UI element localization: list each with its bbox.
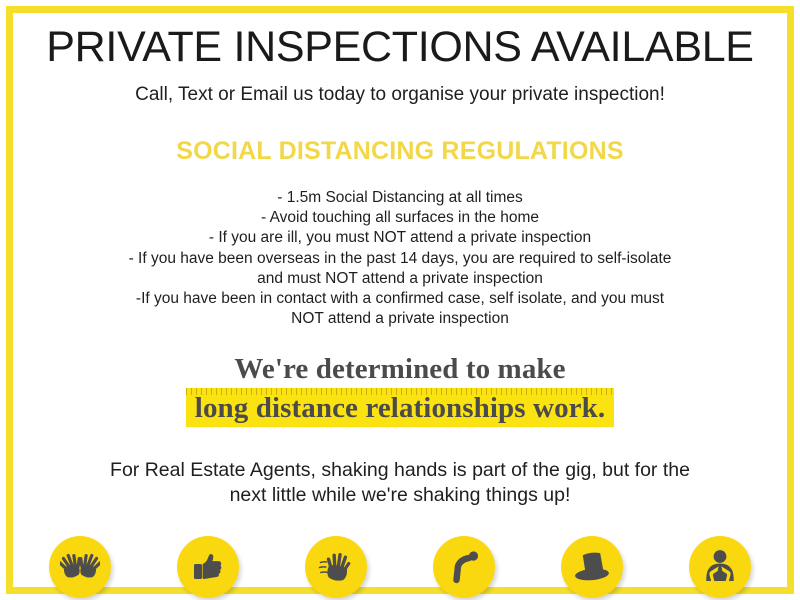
- gesture-circle: [561, 536, 623, 598]
- gesture-item-waving: Waving: [297, 536, 375, 600]
- rule-line: - Avoid touching all surfaces in the hom…: [26, 208, 774, 228]
- section-title-social-distancing: SOCIAL DISTANCING REGULATIONS: [26, 137, 774, 166]
- page-title: PRIVATE INSPECTIONS AVAILABLE: [26, 25, 774, 70]
- top-hat-icon: [571, 550, 613, 584]
- waving-hand-icon: [318, 549, 354, 585]
- body-copy: For Real Estate Agents, shaking hands is…: [26, 458, 774, 509]
- gesture-item-namaste: Namaste: [681, 536, 759, 600]
- tagline-highlight-wrapper: long distance relationships work.: [26, 388, 774, 427]
- body-copy-line: For Real Estate Agents, shaking hands is…: [26, 458, 774, 483]
- gesture-circle: [433, 536, 495, 598]
- bowing-head: [469, 551, 478, 560]
- gesture-item-bowing: Bowing: [425, 536, 503, 600]
- gesture-item-thumbs-up: Thumbs up: [169, 536, 247, 600]
- rule-line: and must NOT attend a private inspection: [26, 269, 774, 289]
- gesture-circle: [177, 536, 239, 598]
- rule-line: NOT attend a private inspection: [26, 309, 774, 329]
- gesture-circle: [689, 536, 751, 598]
- tagline-line-2-text: long distance relationships work.: [195, 392, 605, 424]
- gesture-list: Jazz hands Thumbs up: [26, 536, 774, 600]
- tagline-line-1: We're determined to make: [26, 353, 774, 385]
- body-copy-line: next little while we're shaking things u…: [26, 483, 774, 508]
- poster-content: PRIVATE INSPECTIONS AVAILABLE Call, Text…: [0, 0, 800, 600]
- jazz-hands-icon: [60, 550, 100, 584]
- namaste-person-icon: [700, 548, 740, 586]
- gesture-item-tip-of-the-hat: Tip of the hat: [553, 536, 631, 600]
- gesture-item-jazz-hands: Jazz hands: [41, 536, 119, 600]
- gesture-circle: [305, 536, 367, 598]
- tagline-line-2-highlighted: long distance relationships work.: [186, 388, 614, 427]
- thumbs-up-icon: [191, 550, 225, 584]
- rule-line: - If you are ill, you must NOT attend a …: [26, 228, 774, 248]
- rules-list: - 1.5m Social Distancing at all times - …: [26, 188, 774, 329]
- subtitle: Call, Text or Email us today to organise…: [26, 84, 774, 106]
- rule-line: - If you have been overseas in the past …: [26, 249, 774, 269]
- poster: PRIVATE INSPECTIONS AVAILABLE Call, Text…: [0, 0, 800, 600]
- tagline: We're determined to make long distance r…: [26, 353, 774, 427]
- rule-line: -If you have been in contact with a conf…: [26, 289, 774, 309]
- rule-line: - 1.5m Social Distancing at all times: [26, 188, 774, 208]
- gesture-circle: [49, 536, 111, 598]
- bowing-person-icon: [447, 549, 481, 585]
